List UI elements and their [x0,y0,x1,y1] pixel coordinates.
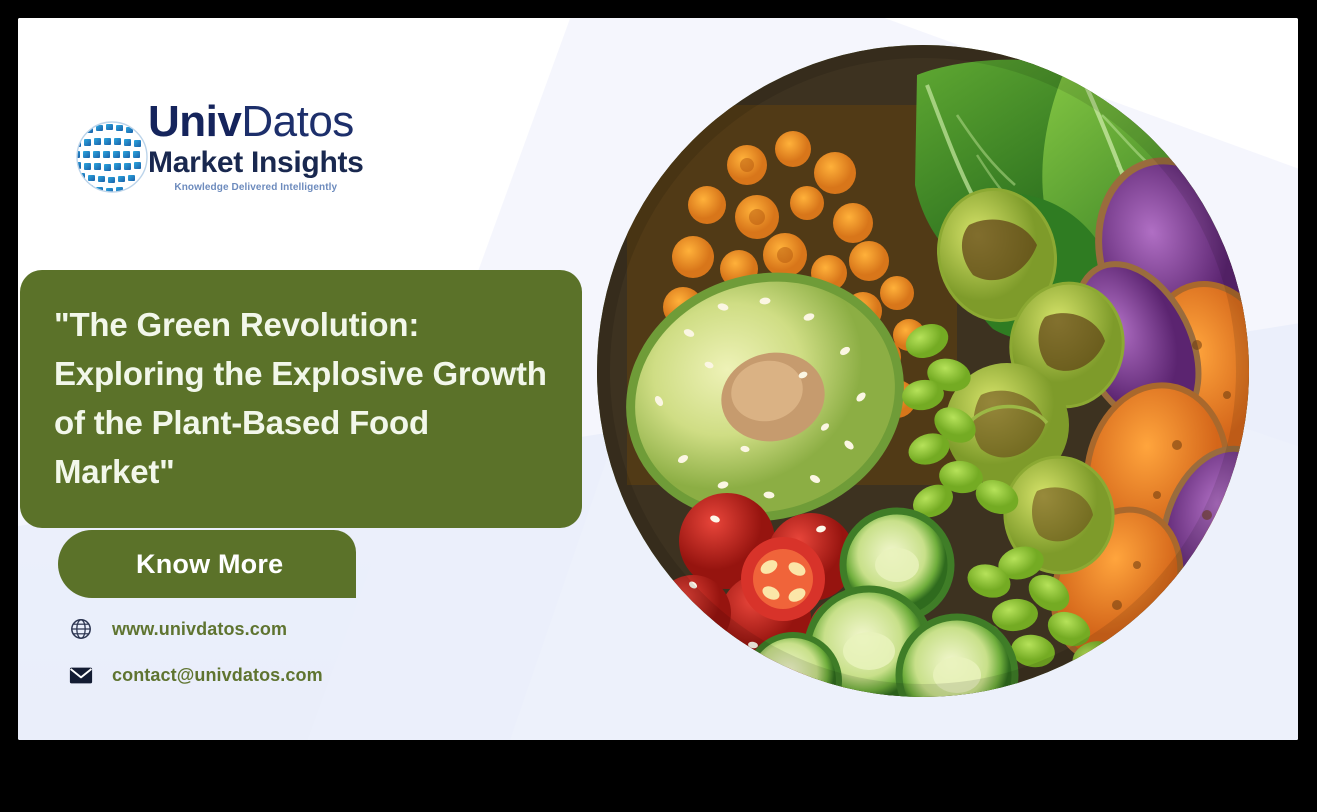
know-more-button[interactable]: Know More [58,530,356,598]
logo-name-bold: Univ [148,97,241,146]
globe-grid-icon [70,110,154,200]
logo-tagline: Knowledge Delivered Intelligently [148,182,364,193]
email-label: contact@univdatos.com [112,665,323,686]
website-label: www.univdatos.com [112,619,287,640]
contact-website-row[interactable]: www.univdatos.com [68,606,488,652]
logo-name-light: Datos [241,97,353,146]
logo-subtitle: Market Insights [148,146,364,180]
brand-logo[interactable]: UnivDatos Market Insights Knowledge Deli… [70,96,410,218]
page-title: "The Green Revolution: Exploring the Exp… [54,300,556,496]
globe-icon [68,616,94,642]
plant-based-food-bowl-image [597,45,1249,697]
envelope-icon [68,662,94,688]
headline-panel: "The Green Revolution: Exploring the Exp… [20,270,582,528]
outer-frame: UnivDatos Market Insights Knowledge Deli… [0,0,1317,812]
contact-email-row[interactable]: contact@univdatos.com [68,652,488,698]
banner-canvas: UnivDatos Market Insights Knowledge Deli… [18,18,1298,740]
contact-list: www.univdatos.com contact@univdatos.com [68,606,488,698]
